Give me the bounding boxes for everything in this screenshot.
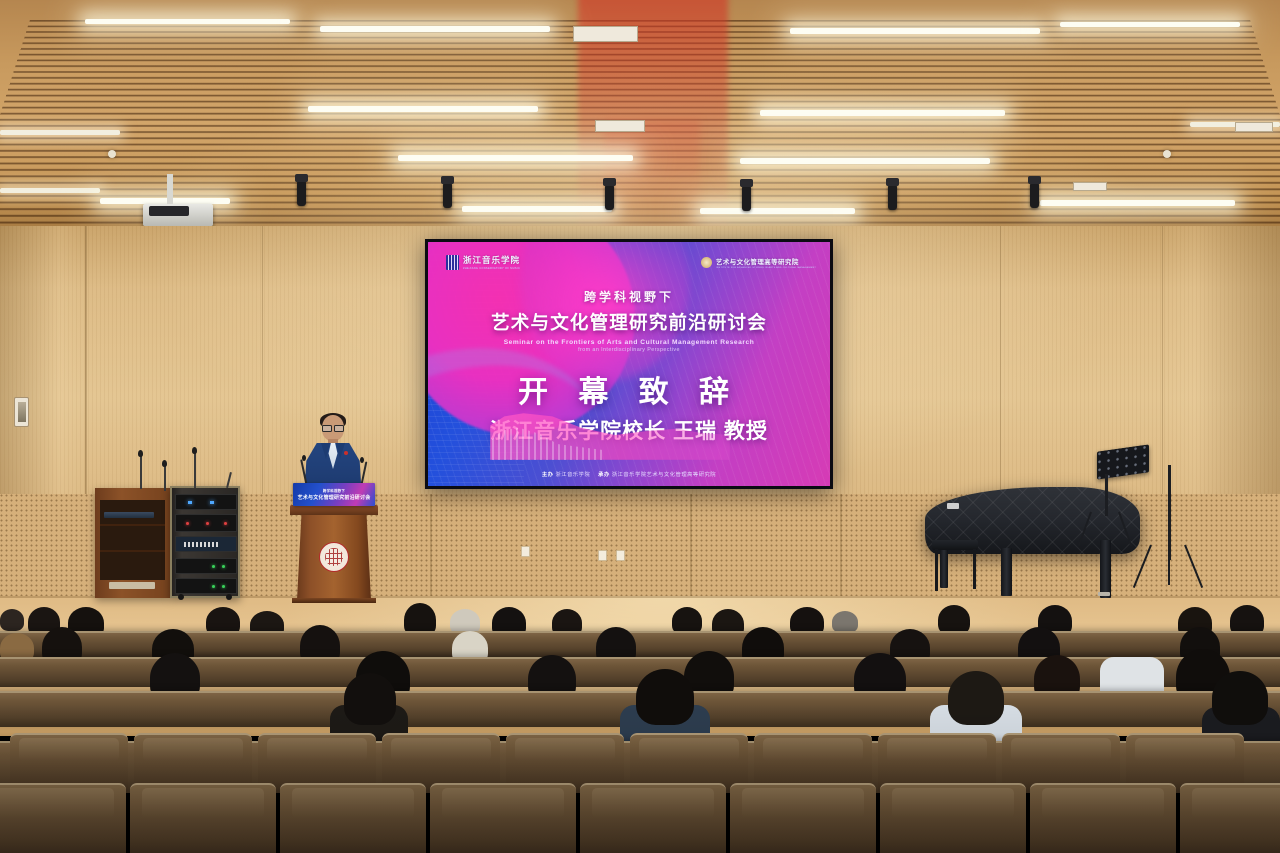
screen-footer-organizer-value: 浙江音乐学院艺术与文化管理高等研究院 xyxy=(612,472,716,478)
screen-logo-right: 艺术与文化管理高等研究院 INSTITUTE FOR ADVANCED STUD… xyxy=(701,256,816,269)
screen-kicker: 跨学科视野下 xyxy=(428,288,830,305)
microphone-head-icon xyxy=(302,455,306,461)
microphone-head-icon xyxy=(162,460,167,467)
ceiling-spotlight xyxy=(297,180,306,206)
person-hair xyxy=(832,611,858,633)
wall-seam xyxy=(262,226,263,496)
seat[interactable] xyxy=(1180,783,1280,853)
podium-banner-title: 艺术与文化管理研究前沿研讨会 xyxy=(293,494,375,501)
microphone-stand xyxy=(194,452,196,488)
microphone-head-icon xyxy=(360,457,364,463)
screen-logo-right-en: INSTITUTE FOR ADVANCED STUDIES IN ARTS A… xyxy=(716,267,816,269)
audience-area xyxy=(0,586,1280,853)
led-screen[interactable]: 浙江音乐学院 ZHEJIANG CONSERVATORY OF MUSIC 艺术… xyxy=(425,239,833,489)
lapel-pin-icon xyxy=(344,451,348,455)
screen-subtitle-en-2: from an Interdisciplinary Perspective xyxy=(428,347,830,353)
auditorium-photo: 浙江音乐学院 ZHEJIANG CONSERVATORY OF MUSIC 艺术… xyxy=(0,0,1280,853)
seat[interactable] xyxy=(280,783,426,853)
microphone-stand xyxy=(140,455,142,489)
status-led-red xyxy=(224,522,227,525)
podium: 跨学科视野下 艺术与文化管理研究前沿研讨会 xyxy=(290,485,378,600)
podium-top-surface xyxy=(290,505,378,515)
piano-leg xyxy=(940,546,948,588)
fluorescent-light xyxy=(700,208,855,214)
fluorescent-light xyxy=(308,106,538,112)
rack-unit-receiver[interactable] xyxy=(175,558,237,574)
status-led-blue xyxy=(210,501,214,504)
screen-main-content: 跨学科视野下 艺术与文化管理研究前沿研讨会 Seminar on the Fro… xyxy=(428,288,830,445)
fluorescent-light xyxy=(1040,200,1235,206)
wall-outlet xyxy=(521,546,530,557)
ceiling-vent xyxy=(595,120,645,132)
podium-banner-kicker: 跨学科视野下 xyxy=(293,488,375,493)
bench-leg xyxy=(935,549,938,591)
status-led-green xyxy=(212,565,215,568)
screen-logo-left-en: ZHEJIANG CONSERVATORY OF MUSIC xyxy=(463,267,520,270)
wall-control-panel[interactable] xyxy=(14,397,29,427)
screen-footer-host-value: 浙江音乐学院 xyxy=(555,472,590,478)
ceiling-vent xyxy=(573,26,638,42)
ceiling xyxy=(0,0,1280,232)
ceiling-spotlight xyxy=(888,184,897,210)
screen-logo-left-cn: 浙江音乐学院 xyxy=(463,254,520,266)
rack-unit-amp[interactable] xyxy=(175,514,237,532)
fluorescent-light xyxy=(790,28,1040,34)
screen-logo-right-cn: 艺术与文化管理高等研究院 xyxy=(716,256,816,266)
fluorescent-light xyxy=(85,19,290,24)
institute-badge-icon xyxy=(701,257,712,268)
seat[interactable] xyxy=(130,783,276,853)
wall-outlet xyxy=(598,550,607,561)
cabinet-shelf xyxy=(100,550,165,552)
podium-banner: 跨学科视野下 艺术与文化管理研究前沿研讨会 xyxy=(293,483,375,506)
fluorescent-light xyxy=(0,188,100,193)
rack-unit-processor[interactable] xyxy=(175,536,237,552)
microphone-head-icon xyxy=(192,447,197,454)
status-led-green xyxy=(222,565,225,568)
fluorescent-light xyxy=(1060,22,1240,27)
ceiling-projector xyxy=(143,204,213,226)
fluorescent-light xyxy=(320,26,550,32)
status-led-red xyxy=(186,522,189,525)
music-stand-pole xyxy=(1105,474,1108,516)
screen-footer: 主办 浙江音乐学院 承办 浙江音乐学院艺术与文化管理高等研究院 xyxy=(428,470,830,478)
fluorescent-light xyxy=(740,158,990,164)
screen-footer-host-label: 主办 xyxy=(542,472,554,478)
seat[interactable] xyxy=(1030,783,1176,853)
screen-footer-organizer-label: 承办 xyxy=(598,472,610,478)
fluorescent-light xyxy=(0,130,120,135)
av-equipment-rack xyxy=(170,486,240,598)
screen-subtitle-en-1: Seminar on the Frontiers of Arts and Cul… xyxy=(428,339,830,346)
person-hair xyxy=(344,673,396,725)
microphone-head-icon xyxy=(138,450,143,457)
fluorescent-light xyxy=(398,155,633,161)
ceiling-sensor-icon xyxy=(108,150,116,158)
fluorescent-light xyxy=(760,110,1005,116)
microphone-stand xyxy=(164,465,166,491)
fluorescent-light xyxy=(462,206,612,212)
school-crest-emblem xyxy=(319,542,349,572)
cabinet-shelf xyxy=(100,524,165,526)
eyeglasses-icon xyxy=(322,425,344,430)
ceiling-vent xyxy=(1235,122,1273,132)
seat[interactable] xyxy=(730,783,876,853)
seat[interactable] xyxy=(880,783,1026,853)
led-screen-surface: 浙江音乐学院 ZHEJIANG CONSERVATORY OF MUSIC 艺术… xyxy=(428,242,830,486)
screen-session-title: 开 幕 致 辞 xyxy=(428,367,830,411)
tripod-leg xyxy=(1168,545,1170,585)
ceiling-spotlight xyxy=(605,184,614,210)
ceiling-vent xyxy=(1073,182,1107,191)
wall-seam xyxy=(1000,226,1001,496)
av-equipment-cabinet xyxy=(95,488,170,598)
rack-unit-mixer[interactable] xyxy=(175,494,237,510)
piano-bench xyxy=(932,540,978,550)
screen-title: 艺术与文化管理研究前沿研讨会 xyxy=(428,309,830,335)
ceiling-sensor-icon xyxy=(1163,150,1171,158)
piano-cover-tag xyxy=(947,503,959,509)
seat[interactable] xyxy=(580,783,726,853)
person-hair xyxy=(948,671,1004,725)
ceiling-spotlight xyxy=(742,185,751,211)
bench-leg xyxy=(973,549,976,589)
wall-outlet xyxy=(616,550,625,561)
ceiling-spotlight xyxy=(443,182,452,208)
ceiling-spotlight xyxy=(1030,182,1039,208)
screen-logo-left: 浙江音乐学院 ZHEJIANG CONSERVATORY OF MUSIC xyxy=(446,254,520,270)
status-led-blue xyxy=(188,501,192,504)
person-hair xyxy=(636,669,694,725)
status-led-red xyxy=(206,522,209,525)
laptop-device[interactable] xyxy=(104,512,154,518)
person-hair xyxy=(1212,671,1268,725)
projector-lens-icon xyxy=(149,206,189,216)
seal-logo-icon xyxy=(446,255,459,270)
seat[interactable] xyxy=(0,783,126,853)
seat[interactable] xyxy=(430,783,576,853)
person-hair xyxy=(0,609,24,631)
